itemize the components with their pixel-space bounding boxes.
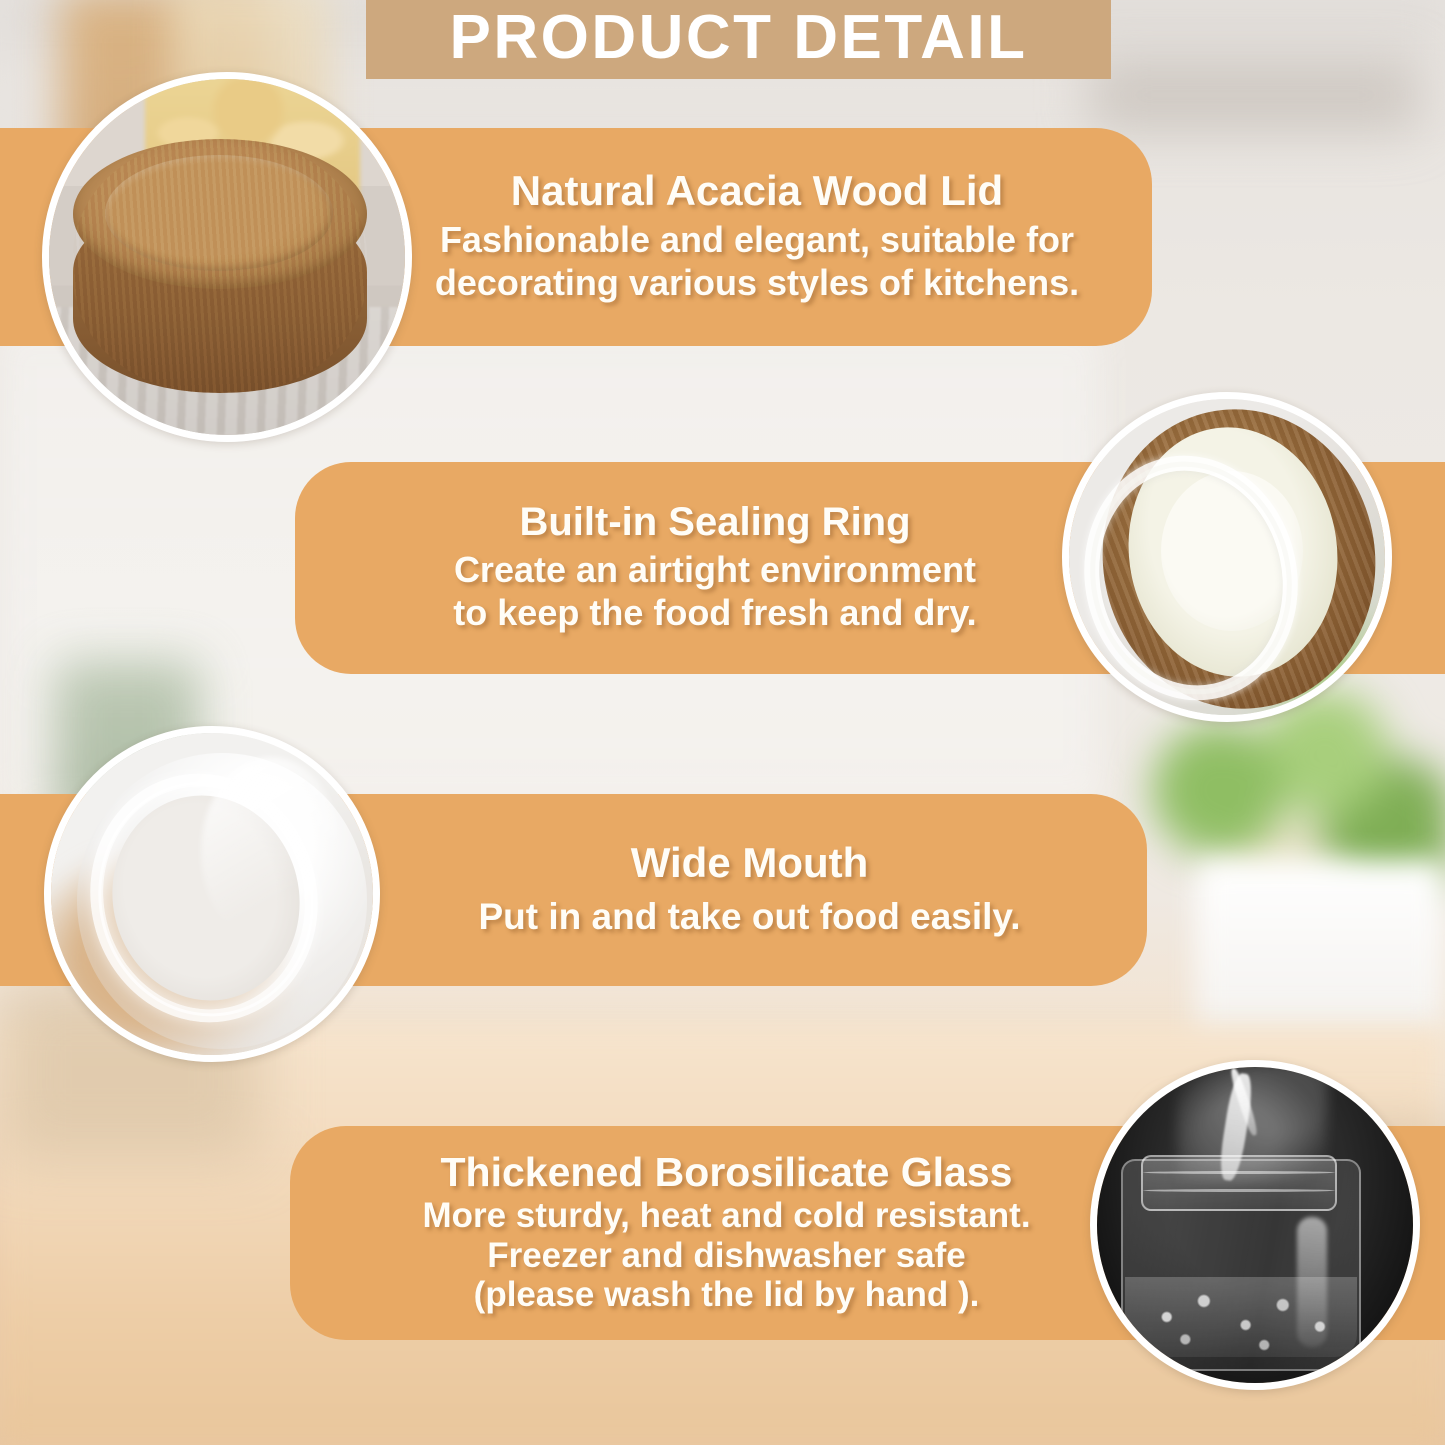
title-banner: PRODUCT DETAIL — [366, 0, 1111, 79]
wide-mouth-glass-jar-photo — [44, 726, 380, 1062]
glass-edge-highlight — [1297, 1217, 1327, 1347]
jar-thread-line-2 — [1143, 1189, 1335, 1192]
feature-heading-acacia-wood-lid: Natural Acacia Wood Lid — [380, 169, 1134, 213]
hot-water-poured-into-glass-jar-photo — [1090, 1060, 1420, 1390]
wood-grain-texture — [73, 139, 367, 393]
feature-heading-borosilicate-glass: Thickened Borosilicate Glass — [441, 1151, 1013, 1194]
feature-heading-wide-mouth: Wide Mouth — [631, 841, 869, 885]
jar-thread-line-1 — [1143, 1171, 1335, 1174]
feature-heading-sealing-ring: Built-in Sealing Ring — [519, 501, 910, 543]
feature-line-borosilicate-glass-1: More sturdy, heat and cold resistant. — [422, 1196, 1030, 1236]
feature-line-acacia-wood-lid-1: Fashionable and elegant, suitable for — [380, 219, 1134, 262]
page-title: PRODUCT DETAIL — [449, 7, 1027, 73]
feature-line-borosilicate-glass-2: Freezer and dishwasher safe — [487, 1236, 966, 1276]
feature-line-sealing-ring-2: to keep the food fresh and dry. — [453, 592, 976, 635]
lid-with-silicone-sealing-ring-photo — [1062, 392, 1392, 722]
feature-line-borosilicate-glass-3: (please wash the lid by hand ). — [474, 1275, 980, 1315]
glass-highlight — [201, 757, 341, 947]
product-detail-infographic: PRODUCT DETAIL Natural Acacia Wood Lid F… — [0, 0, 1445, 1445]
acacia-wood-lid-photo — [42, 72, 412, 442]
feature-line-sealing-ring-1: Create an airtight environment — [454, 549, 976, 592]
feature-line-wide-mouth-1: Put in and take out food easily. — [478, 895, 1020, 939]
feature-line-acacia-wood-lid-2: decorating various styles of kitchens. — [380, 262, 1134, 305]
background-shelf-right — [1090, 60, 1420, 130]
